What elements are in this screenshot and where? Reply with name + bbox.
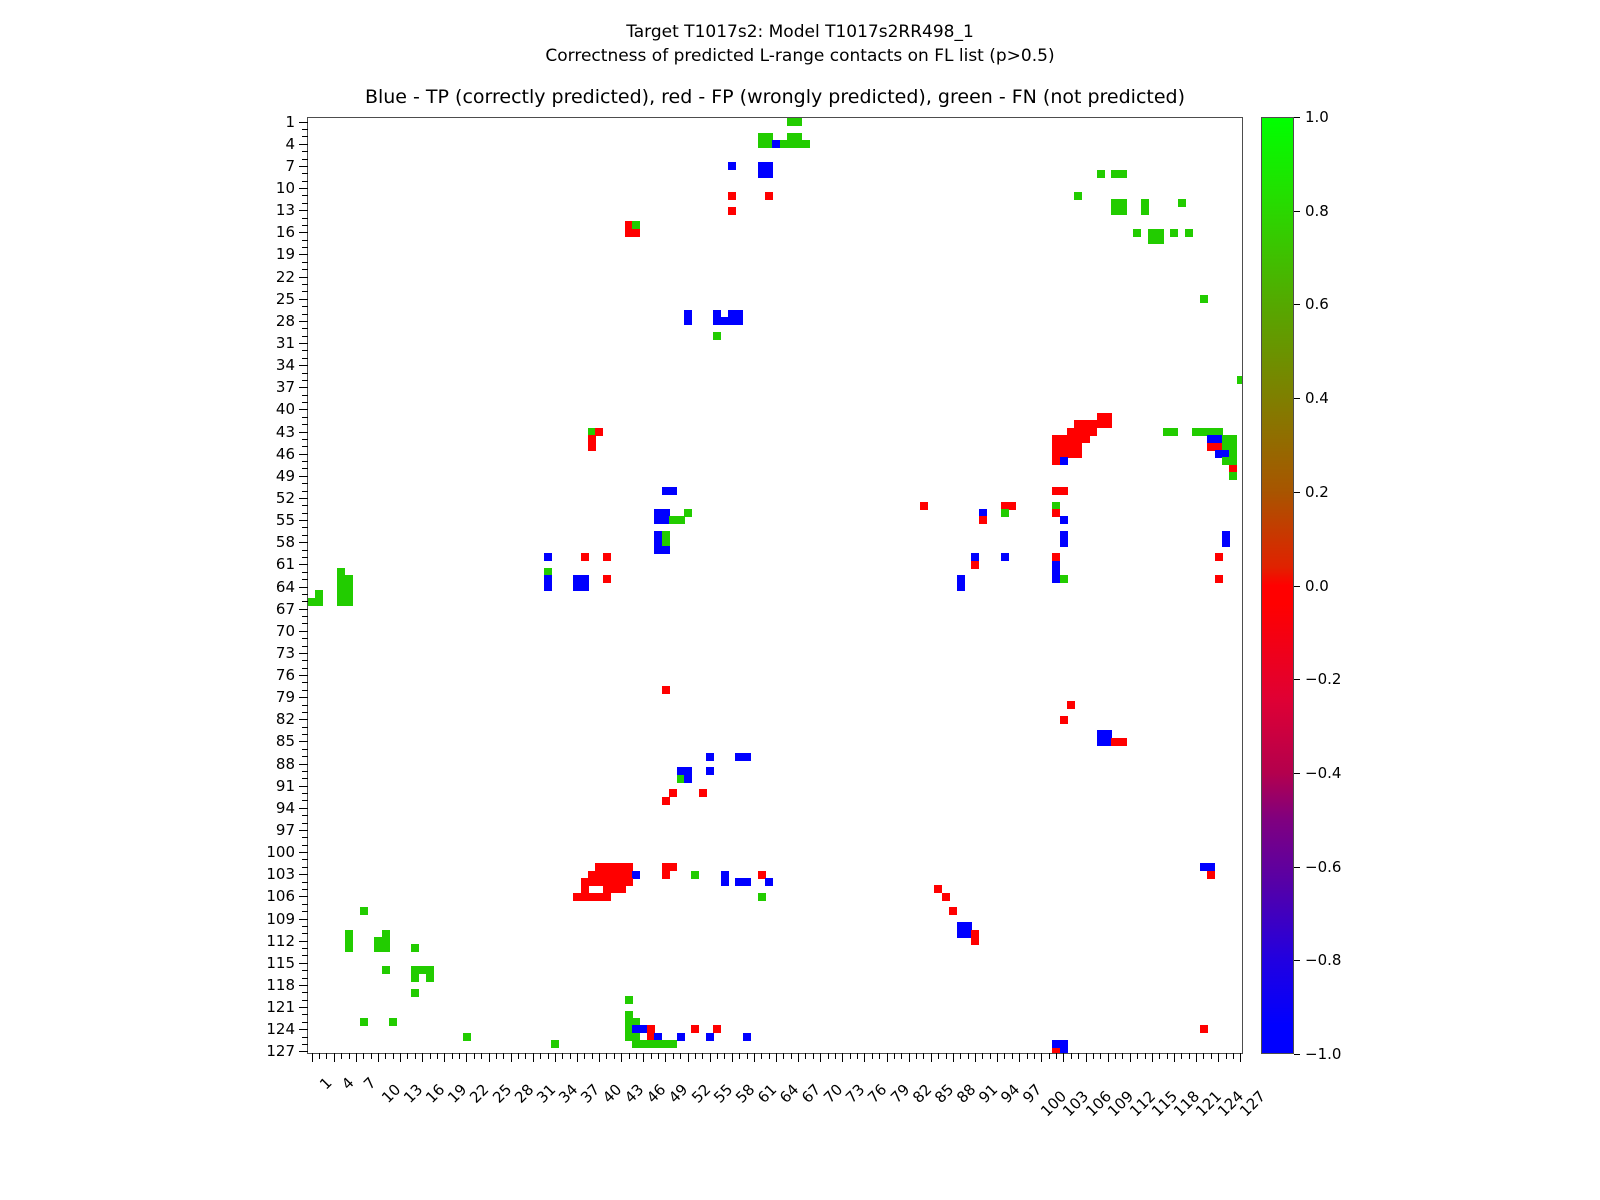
y-tick (302, 269, 308, 270)
contact-cell-fn (463, 1033, 471, 1041)
y-tick (302, 992, 308, 993)
contact-cell-fn (360, 1018, 368, 1026)
y-tick (299, 254, 308, 255)
contact-cell-fn (1178, 199, 1186, 207)
x-tick (606, 1053, 607, 1059)
contact-cell-fp (603, 893, 611, 901)
y-tick (302, 978, 308, 979)
y-tick (302, 461, 308, 462)
contact-cell-tp (684, 775, 692, 783)
y-tick (299, 1029, 308, 1030)
contact-cell-fn (677, 516, 685, 524)
y-tick-label: 79 (276, 688, 295, 706)
y-tick (299, 631, 308, 632)
x-tick (518, 1053, 519, 1059)
y-tick (302, 284, 308, 285)
x-tick (437, 1053, 438, 1059)
y-tick-label: 121 (266, 998, 295, 1016)
contact-cell-fp (603, 575, 611, 583)
x-tick (651, 1053, 652, 1059)
contact-cell-fp (662, 871, 670, 879)
y-tick (299, 764, 308, 765)
y-tick (299, 432, 308, 433)
contact-cell-fp (699, 789, 707, 797)
y-tick (302, 793, 308, 794)
contact-cell-fn (691, 871, 699, 879)
y-tick (299, 808, 308, 809)
contact-cell-fp (1200, 1025, 1208, 1033)
contact-cell-fp (949, 907, 957, 915)
x-tick (1145, 1053, 1146, 1059)
y-tick (302, 402, 308, 403)
x-tick (466, 1053, 467, 1062)
y-tick (302, 1044, 308, 1045)
colorbar-tick-label: 0.2 (1305, 483, 1329, 501)
y-tick (299, 409, 308, 410)
y-tick (302, 358, 308, 359)
y-tick (302, 904, 308, 905)
x-tick (923, 1053, 924, 1059)
y-tick (302, 616, 308, 617)
y-tick-label: 34 (276, 356, 295, 374)
contact-cell-fp (691, 1025, 699, 1033)
y-tick-label: 13 (276, 201, 295, 219)
contact-cell-tp (743, 1033, 751, 1041)
y-tick (302, 970, 308, 971)
x-tick (1240, 1053, 1241, 1062)
x-tick (1108, 1053, 1109, 1062)
x-tick (1012, 1053, 1013, 1059)
x-tick (901, 1053, 902, 1059)
y-tick (302, 417, 308, 418)
x-tick (371, 1053, 372, 1059)
x-tick (1063, 1053, 1064, 1062)
x-tick (496, 1053, 497, 1059)
y-tick (302, 203, 308, 204)
x-tick (562, 1053, 563, 1059)
contact-cell-fp (1008, 502, 1016, 510)
y-tick (302, 535, 308, 536)
x-tick (879, 1053, 880, 1059)
x-tick-label: 7 (360, 1074, 379, 1093)
contact-cell-fp (1089, 428, 1097, 436)
y-tick-label: 61 (276, 555, 295, 573)
x-tick (673, 1053, 674, 1059)
x-tick (739, 1053, 740, 1059)
y-tick (299, 498, 308, 499)
y-tick-label: 22 (276, 268, 295, 286)
y-tick (302, 151, 308, 152)
contact-cell-tp (1060, 457, 1068, 465)
y-tick (302, 933, 308, 934)
y-tick (302, 889, 308, 890)
y-tick (302, 660, 308, 661)
x-tick (1004, 1053, 1005, 1059)
y-tick-label: 88 (276, 755, 295, 773)
contact-cell-fp (920, 502, 928, 510)
x-tick (356, 1053, 357, 1062)
contact-cell-fp (728, 192, 736, 200)
y-tick-label: 40 (276, 400, 295, 418)
colorbar-tick-label: 0.8 (1305, 202, 1329, 220)
colorbar-tick (1294, 1054, 1300, 1055)
y-tick (299, 675, 308, 676)
y-tick-label: 76 (276, 666, 295, 684)
contact-cell-tp (662, 546, 670, 554)
contact-cell-fp (1119, 738, 1127, 746)
contact-cell-fp (1207, 871, 1215, 879)
x-tick (997, 1053, 998, 1062)
y-tick (302, 911, 308, 912)
colorbar-tick-label: 1.0 (1305, 108, 1329, 126)
y-tick (299, 587, 308, 588)
x-tick (732, 1053, 733, 1062)
contact-cell-fp (595, 428, 603, 436)
y-tick (299, 188, 308, 189)
contact-cell-layer (308, 118, 1242, 1053)
contact-cell-fp (581, 553, 589, 561)
x-tick (592, 1053, 593, 1059)
x-tick (769, 1053, 770, 1059)
y-tick (302, 800, 308, 801)
contact-cell-fn (345, 944, 353, 952)
y-tick-label: 82 (276, 710, 295, 728)
colorbar-tick (1294, 960, 1300, 961)
contact-cell-fn (794, 118, 802, 126)
x-tick (1027, 1053, 1028, 1059)
y-tick (299, 476, 308, 477)
x-tick (1196, 1053, 1197, 1062)
x-tick (820, 1053, 821, 1062)
y-tick (299, 542, 308, 543)
y-tick-label: 16 (276, 223, 295, 241)
contact-cell-fn (684, 509, 692, 517)
x-tick (1181, 1053, 1182, 1059)
x-tick (1100, 1053, 1101, 1059)
x-tick (1093, 1053, 1094, 1059)
figure-title-block: Target T1017s2: Model T1017s2RR498_1 Cor… (0, 20, 1600, 68)
contact-cell-fp (603, 553, 611, 561)
contact-cell-fn (426, 974, 434, 982)
figure-title-line-1: Target T1017s2: Model T1017s2RR498_1 (0, 20, 1600, 44)
x-tick (1041, 1053, 1042, 1062)
x-tick (864, 1053, 865, 1062)
x-tick (798, 1053, 799, 1062)
y-tick (302, 225, 308, 226)
y-tick (302, 1000, 308, 1001)
y-tick (299, 277, 308, 278)
y-tick (299, 321, 308, 322)
y-tick-label: 10 (276, 179, 295, 197)
y-tick (302, 195, 308, 196)
y-tick (302, 129, 308, 130)
contact-cell-tp (706, 753, 714, 761)
x-tick (975, 1053, 976, 1062)
y-tick (299, 144, 308, 145)
x-tick (953, 1053, 954, 1062)
y-tick-label: 100 (266, 843, 295, 861)
x-tick (459, 1053, 460, 1059)
contact-cell-tp (1001, 553, 1009, 561)
contact-cell-fp (942, 893, 950, 901)
y-tick (302, 218, 308, 219)
y-tick-label: 19 (276, 245, 295, 263)
x-tick (334, 1053, 335, 1062)
x-tick (1233, 1053, 1234, 1059)
x-tick (776, 1053, 777, 1062)
y-tick (302, 778, 308, 779)
x-tick (548, 1053, 549, 1059)
x-tick (489, 1053, 490, 1062)
y-tick (299, 387, 308, 388)
x-tick (710, 1053, 711, 1062)
x-tick (511, 1053, 512, 1062)
y-tick (302, 749, 308, 750)
contact-cell-fp (618, 885, 626, 893)
x-tick (747, 1053, 748, 1059)
y-tick-label: 55 (276, 511, 295, 529)
contact-cell-tp (735, 317, 743, 325)
y-tick-label: 85 (276, 732, 295, 750)
contact-cell-fn (1119, 207, 1127, 215)
x-tick (1167, 1053, 1168, 1059)
contact-cell-fp (1060, 487, 1068, 495)
y-tick (299, 874, 308, 875)
y-tick (299, 210, 308, 211)
x-tick (341, 1053, 342, 1059)
y-tick-label: 31 (276, 334, 295, 352)
y-tick-label: 43 (276, 423, 295, 441)
x-tick (946, 1053, 947, 1059)
y-tick-label: 97 (276, 821, 295, 839)
y-tick (302, 859, 308, 860)
y-tick (299, 365, 308, 366)
y-tick-label: 118 (266, 976, 295, 994)
colorbar-tick-label: 0.6 (1305, 295, 1329, 313)
y-tick (302, 527, 308, 528)
y-tick (302, 291, 308, 292)
x-tick (938, 1053, 939, 1059)
y-tick (302, 668, 308, 669)
y-tick (302, 955, 308, 956)
contact-cell-fn (1060, 575, 1068, 583)
y-tick (299, 454, 308, 455)
contact-cell-fn (758, 893, 766, 901)
contact-cell-fp (1082, 435, 1090, 443)
y-tick-label: 94 (276, 799, 295, 817)
contact-cell-tp (765, 878, 773, 886)
colorbar-tick (1294, 867, 1300, 868)
y-tick (302, 1014, 308, 1015)
x-tick (724, 1053, 725, 1059)
x-tick (894, 1053, 895, 1059)
contact-cell-fn (1237, 376, 1242, 384)
contact-cell-fp (971, 937, 979, 945)
contact-cell-fn (1156, 236, 1164, 244)
y-tick (299, 985, 308, 986)
y-tick (302, 1037, 308, 1038)
contact-cell-fn (1133, 229, 1141, 237)
contact-cell-fp (765, 192, 773, 200)
x-tick (415, 1053, 416, 1059)
y-tick (299, 564, 308, 565)
contact-cell-tp (1222, 539, 1230, 547)
y-tick-label: 127 (266, 1042, 295, 1060)
x-tick (805, 1053, 806, 1059)
contact-cell-tp (706, 1033, 714, 1041)
x-tick (658, 1053, 659, 1059)
contact-cell-fp (1104, 420, 1112, 428)
x-tick (982, 1053, 983, 1059)
y-tick (302, 247, 308, 248)
contact-cell-fn (411, 974, 419, 982)
contact-cell-fn (1170, 428, 1178, 436)
y-tick-label: 109 (266, 910, 295, 928)
contact-cell-tp (581, 583, 589, 591)
y-tick (299, 896, 308, 897)
contact-cell-fn (382, 944, 390, 952)
x-tick (1189, 1053, 1190, 1059)
x-tick (629, 1053, 630, 1059)
contact-cell-fn (1119, 170, 1127, 178)
y-tick (302, 815, 308, 816)
x-tick (614, 1053, 615, 1059)
contact-cell-tp (743, 878, 751, 886)
y-tick-label: 103 (266, 865, 295, 883)
y-tick (302, 579, 308, 580)
y-tick (299, 741, 308, 742)
x-tick (393, 1053, 394, 1059)
x-tick (319, 1053, 320, 1059)
x-tick (452, 1053, 453, 1059)
colorbar-tick-label: −0.4 (1305, 764, 1341, 782)
y-tick-label: 67 (276, 600, 295, 618)
y-tick (302, 314, 308, 315)
contact-cell-fp (1074, 450, 1082, 458)
y-tick (302, 328, 308, 329)
contact-cell-tp (765, 170, 773, 178)
colorbar-tick-label: −1.0 (1305, 1045, 1341, 1063)
contact-cell-fp (728, 207, 736, 215)
y-tick-label: 52 (276, 489, 295, 507)
x-tick (1034, 1053, 1035, 1059)
contact-cell-fp (662, 797, 670, 805)
y-tick (299, 719, 308, 720)
x-tick (1218, 1053, 1219, 1062)
x-tick (688, 1053, 689, 1062)
x-tick (1019, 1053, 1020, 1062)
y-tick (302, 483, 308, 484)
colorbar[interactable]: 1.00.80.60.40.20.0−0.2−0.4−0.6−0.8−1.0 (1261, 117, 1294, 1054)
x-tick (503, 1053, 504, 1059)
y-tick (302, 505, 308, 506)
x-tick (695, 1053, 696, 1059)
y-tick (302, 491, 308, 492)
x-tick (378, 1053, 379, 1062)
figure-title-line-2: Correctness of predicted L-range contact… (0, 44, 1600, 68)
contact-cell-fn (1097, 170, 1105, 178)
y-tick-label: 25 (276, 290, 295, 308)
y-tick (302, 690, 308, 691)
contact-cell-fn (551, 1040, 559, 1048)
x-tick (444, 1053, 445, 1062)
y-tick (299, 343, 308, 344)
contact-cell-tp (684, 317, 692, 325)
y-tick (302, 513, 308, 514)
contact-cell-fp (1060, 716, 1068, 724)
contact-cell-fp (979, 516, 987, 524)
contact-map-plot[interactable]: 1471013161922252831343740434649525558616… (307, 117, 1243, 1054)
contact-cell-fn (713, 332, 721, 340)
y-tick (302, 380, 308, 381)
contact-cell-fp (588, 443, 596, 451)
y-tick-label: 70 (276, 622, 295, 640)
contact-cell-fp (632, 229, 640, 237)
y-tick (299, 941, 308, 942)
x-tick (643, 1053, 644, 1062)
y-tick-label: 28 (276, 312, 295, 330)
y-tick (302, 867, 308, 868)
y-tick (299, 299, 308, 300)
x-tick (783, 1053, 784, 1059)
contact-cell-tp (1060, 516, 1068, 524)
x-tick (717, 1053, 718, 1059)
contact-cell-fn (1170, 229, 1178, 237)
x-tick (481, 1053, 482, 1059)
y-tick (299, 963, 308, 964)
colorbar-tick-label: −0.6 (1305, 858, 1341, 876)
contact-cell-fn (315, 598, 323, 606)
y-tick (302, 882, 308, 883)
contact-cell-tp (721, 878, 729, 886)
y-tick (299, 1051, 308, 1052)
x-tick-label: 4 (338, 1074, 357, 1093)
x-tick (1056, 1053, 1057, 1059)
y-tick (302, 262, 308, 263)
contact-cell-fn (802, 140, 810, 148)
x-tick (1159, 1053, 1160, 1059)
x-tick (754, 1053, 755, 1062)
x-tick (1078, 1053, 1079, 1059)
x-tick (813, 1053, 814, 1059)
x-tick (430, 1053, 431, 1059)
y-tick-label: 112 (266, 932, 295, 950)
contact-cell-fn (625, 996, 633, 1004)
y-tick-label: 115 (266, 954, 295, 972)
x-tick (1071, 1053, 1072, 1059)
y-tick (302, 771, 308, 772)
y-tick-label: 49 (276, 467, 295, 485)
y-tick (302, 646, 308, 647)
x-tick (1211, 1053, 1212, 1059)
colorbar-tick (1294, 117, 1300, 118)
x-tick (312, 1053, 313, 1062)
colorbar-gradient (1261, 117, 1294, 1054)
x-tick-label: 127 (1236, 1087, 1269, 1120)
y-tick-label: 124 (266, 1020, 295, 1038)
contact-cell-fn (411, 944, 419, 952)
y-tick (302, 712, 308, 713)
x-tick (1174, 1053, 1175, 1062)
x-tick (887, 1053, 888, 1062)
colorbar-tick (1294, 398, 1300, 399)
contact-cell-tp (677, 1033, 685, 1041)
x-tick (363, 1053, 364, 1059)
x-tick (1115, 1053, 1116, 1059)
y-tick (302, 845, 308, 846)
contact-cell-tp (957, 583, 965, 591)
x-tick (1130, 1053, 1131, 1062)
